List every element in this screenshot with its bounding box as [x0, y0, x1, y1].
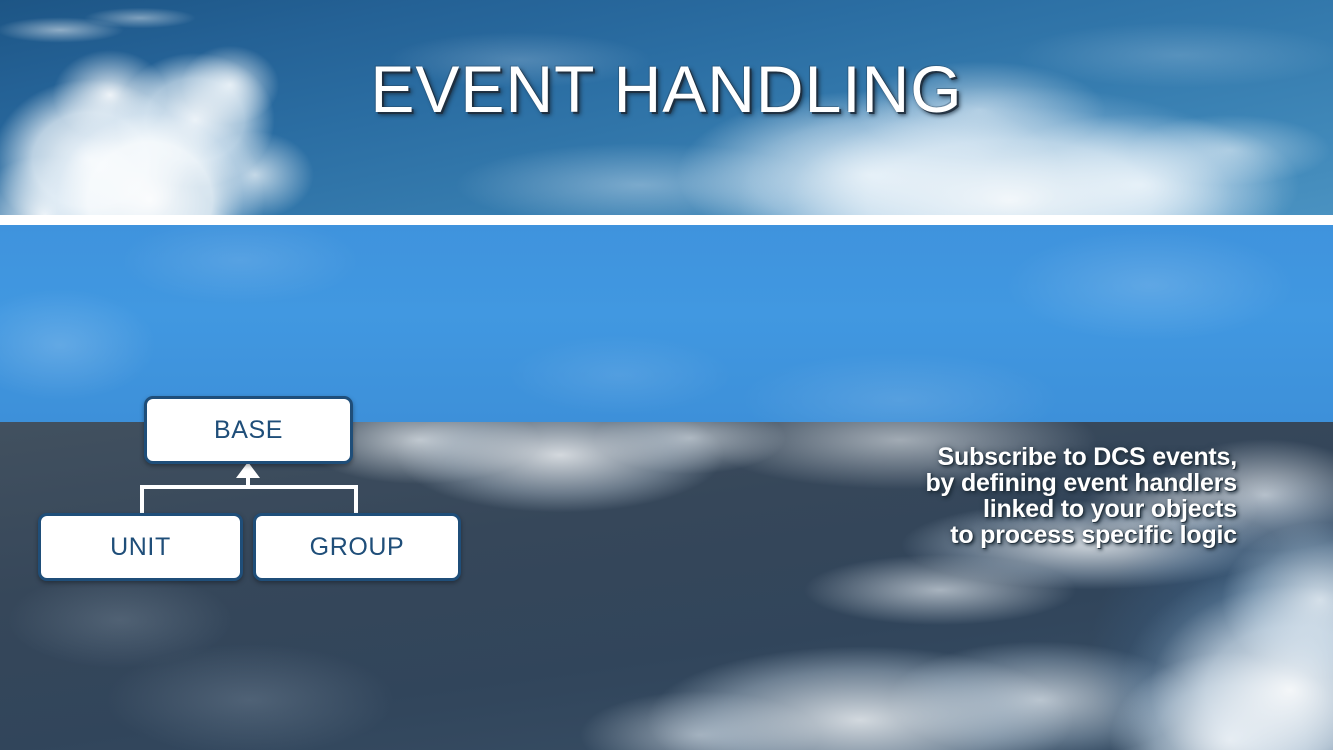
class-hierarchy-diagram: BASE UNIT GROUP	[0, 0, 1333, 750]
class-node-group[interactable]: GROUP	[253, 513, 461, 581]
connector-vertical-left	[140, 485, 144, 515]
class-node-group-label: GROUP	[310, 533, 405, 562]
slide-canvas: EVENT HANDLING Subscribe to DCS events, …	[0, 0, 1333, 750]
inheritance-arrow-icon	[236, 462, 260, 478]
class-node-base-label: BASE	[214, 416, 283, 445]
class-node-base[interactable]: BASE	[144, 396, 353, 464]
class-node-unit-label: UNIT	[110, 533, 171, 562]
class-node-unit[interactable]: UNIT	[38, 513, 243, 581]
connector-vertical-right	[354, 485, 358, 515]
